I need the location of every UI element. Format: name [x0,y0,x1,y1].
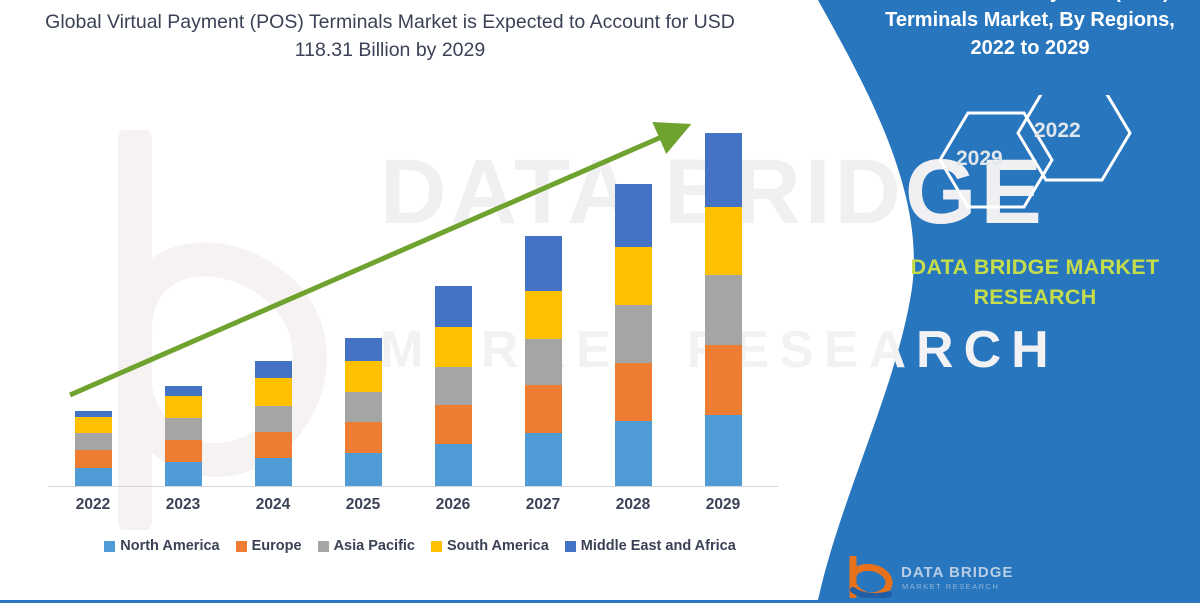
x-axis-label-2028: 2028 [588,492,678,520]
legend-item[interactable]: Europe [236,538,302,554]
bar-segment[interactable] [75,417,112,433]
legend-label: Europe [252,538,302,554]
bar-segment[interactable] [165,396,202,418]
legend-swatch-icon [236,541,247,552]
bar-segment[interactable] [705,345,742,415]
legend-swatch-icon [318,541,329,552]
bar-segment[interactable] [255,406,292,432]
legend-item[interactable]: Middle East and Africa [565,538,736,554]
bar-segment[interactable] [435,405,472,444]
bar-column-2027[interactable] [498,120,588,486]
brand-line-1: DATA BRIDGE MARKET [875,252,1195,282]
bar-segment[interactable] [435,327,472,367]
brand-line-2: RESEARCH [875,282,1195,312]
bar-segment[interactable] [75,450,112,468]
stacked-bar[interactable] [255,361,292,486]
bar-segment[interactable] [345,422,382,453]
bar-segment[interactable] [165,440,202,462]
bar-segment[interactable] [525,433,562,486]
stacked-bar[interactable] [435,286,472,486]
legend-item[interactable]: Asia Pacific [318,538,415,554]
bar-segment[interactable] [165,462,202,486]
page-title: Global Virtual Payment (POS) Terminals M… [40,8,740,64]
chart-legend: North AmericaEuropeAsia PacificSouth Ame… [40,538,800,554]
bar-segment[interactable] [255,432,292,458]
bar-segment[interactable] [705,275,742,345]
stacked-bar[interactable] [705,133,742,486]
bar-segment[interactable] [615,305,652,363]
bar-column-2022[interactable] [48,120,138,486]
bar-segment[interactable] [525,339,562,385]
bar-segment[interactable] [615,184,652,247]
bar-column-2026[interactable] [408,120,498,486]
bar-segment[interactable] [435,286,472,327]
x-axis-label-2025: 2025 [318,492,408,520]
bar-segment[interactable] [525,291,562,339]
legend-label: Middle East and Africa [581,538,736,554]
bar-segment[interactable] [435,367,472,405]
bar-segment[interactable] [525,385,562,433]
bar-segment[interactable] [705,133,742,207]
legend-label: North America [120,538,219,554]
legend-swatch-icon [104,541,115,552]
bar-segment[interactable] [705,207,742,275]
bar-column-2024[interactable] [228,120,318,486]
bar-segment[interactable] [615,421,652,486]
x-axis-label-2023: 2023 [138,492,228,520]
hexagon-year-group: 2029 2022 [920,95,1150,225]
x-axis-label-2024: 2024 [228,492,318,520]
bar-segment[interactable] [255,378,292,406]
footer-logo-subtext: MARKET RESEARCH [902,582,999,591]
footer-logo: DATA BRIDGE MARKET RESEARCH [845,556,1055,600]
legend-label: Asia Pacific [334,538,415,554]
chart-container: DATA BRIDGE MARKET RESEARCH Global Virtu… [0,0,820,580]
stacked-bar[interactable] [165,386,202,486]
bar-column-2029[interactable] [678,120,768,486]
bar-segment[interactable] [75,468,112,486]
x-axis-labels: 20222023202420252026202720282029 [48,492,768,520]
legend-swatch-icon [565,541,576,552]
bar-segment[interactable] [345,361,382,392]
legend-swatch-icon [431,541,442,552]
bar-column-2028[interactable] [588,120,678,486]
bar-column-2023[interactable] [138,120,228,486]
hexagon-label-2022: 2022 [1034,119,1081,143]
bar-segment[interactable] [525,236,562,291]
brand-name: DATA BRIDGE MARKET RESEARCH [875,252,1195,312]
right-panel-title: Global Virtual Payment (POS) Terminals M… [865,0,1195,62]
x-axis-label-2022: 2022 [48,492,138,520]
hexagon-label-2029: 2029 [956,147,1003,171]
bar-column-2025[interactable] [318,120,408,486]
x-axis-label-2026: 2026 [408,492,498,520]
bar-segment[interactable] [255,458,292,486]
footer-logo-icon [845,556,897,598]
footer-logo-text: DATA BRIDGE [901,564,1013,581]
bar-segment[interactable] [165,418,202,440]
bar-segment[interactable] [165,386,202,396]
x-axis-label-2029: 2029 [678,492,768,520]
bar-segment[interactable] [75,433,112,450]
legend-item[interactable]: North America [104,538,219,554]
bar-segment[interactable] [255,361,292,378]
stacked-bar[interactable] [525,236,562,486]
bar-segment[interactable] [435,444,472,486]
plot-area [48,120,768,486]
bar-segment[interactable] [615,247,652,305]
legend-label: South America [447,538,549,554]
stacked-bar[interactable] [615,184,652,486]
stacked-bar[interactable] [75,411,112,486]
bar-segment[interactable] [705,415,742,486]
stacked-bar[interactable] [345,338,382,486]
bar-segment[interactable] [345,392,382,422]
bar-segment[interactable] [345,453,382,486]
x-axis-label-2027: 2027 [498,492,588,520]
legend-item[interactable]: South America [431,538,549,554]
x-axis-line [48,486,778,487]
bar-segment[interactable] [345,338,382,361]
bar-segment[interactable] [615,363,652,421]
